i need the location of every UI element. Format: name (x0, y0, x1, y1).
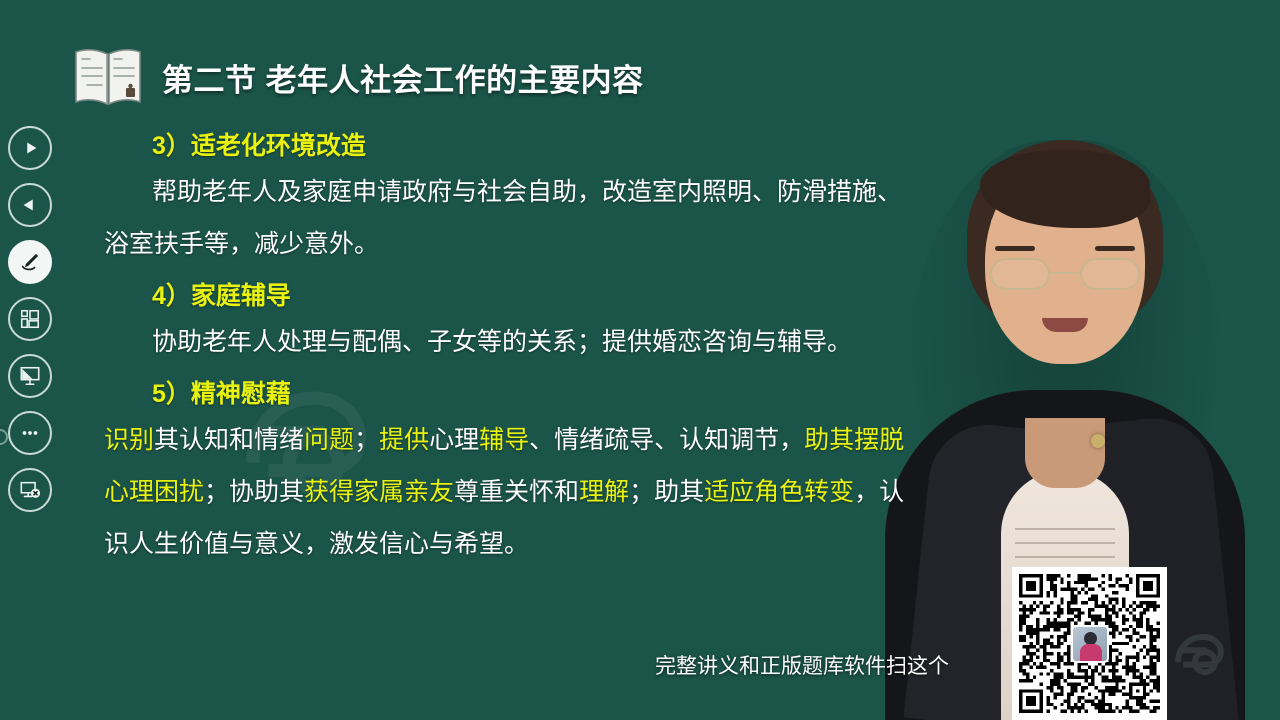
slide-canvas: 第二节 老年人社会工作的主要内容 3）适老化环境改造 帮助老年人及家庭申请政府与… (0, 0, 1280, 720)
text-run-5: 心理 (429, 426, 479, 454)
toolbar-whiteboard-button[interactable] (8, 354, 52, 398)
text-run-4: 提供 (379, 426, 429, 454)
toolbar-exit-screen-button[interactable] (8, 468, 52, 512)
text-run-12: 理解 (579, 478, 629, 506)
play-circle-icon (19, 137, 41, 159)
section-paragraph-5: 识别其认知和情绪问题；提供心理辅导、情绪疏导、认知调节，助其摆脱心理困扰；协助其… (104, 414, 914, 570)
qr-code[interactable] (1012, 567, 1167, 720)
text-run-11: 尊重关怀和 (454, 478, 579, 506)
toolbar-annotate-button[interactable] (8, 240, 52, 284)
pen-icon (19, 251, 41, 273)
section-paragraph-4: 协助老年人处理与配偶、子女等的关系；提供婚恋咨询与辅导。 (104, 316, 914, 368)
slide-body: 3）适老化环境改造 帮助老年人及家庭申请政府与社会自助，改造室内照明、防滑措施、… (104, 130, 914, 570)
screen-close-icon (19, 479, 41, 501)
open-book-icon (70, 44, 146, 110)
text-run-10: 获得家属亲友 (304, 478, 454, 506)
whiteboard-icon (19, 365, 41, 387)
section-heading-4: 4）家庭辅导 (152, 280, 914, 312)
promo-caption: 完整讲义和正版题库软件扫这个 (655, 650, 949, 680)
text-run-7: 、情绪疏导、认知调节， (529, 426, 804, 454)
text-run-9: ；协助其 (204, 478, 304, 506)
qr-center-avatar (1071, 625, 1109, 663)
toolbar-play-button[interactable] (8, 126, 52, 170)
page-title: 第二节 老年人社会工作的主要内容 (162, 55, 644, 100)
text-run-0: 识别 (104, 426, 154, 454)
back-circle-icon (19, 194, 41, 216)
left-toolbar (0, 126, 60, 512)
toolbar-more-button[interactable] (8, 411, 52, 455)
toolbar-previous-button[interactable] (8, 183, 52, 227)
slide-header: 第二节 老年人社会工作的主要内容 (70, 44, 644, 110)
section-paragraph-3: 帮助老年人及家庭申请政府与社会自助，改造室内照明、防滑措施、浴室扶手等，减少意外… (104, 166, 914, 270)
section-heading-3: 3）适老化环境改造 (152, 130, 914, 162)
text-run-14: 适应角色转变 (704, 478, 854, 506)
layout-shapes-icon (19, 308, 41, 330)
text-run-1: 其认知和情绪 (154, 426, 304, 454)
text-run-3: ； (354, 426, 379, 454)
text-run-6: 辅导 (479, 426, 529, 454)
ellipsis-icon (19, 422, 41, 444)
toolbar-layout-button[interactable] (8, 297, 52, 341)
section-heading-5: 5）精神慰藉 (152, 378, 914, 410)
text-run-13: ；助其 (629, 478, 704, 506)
text-run-2: 问题 (304, 426, 354, 454)
